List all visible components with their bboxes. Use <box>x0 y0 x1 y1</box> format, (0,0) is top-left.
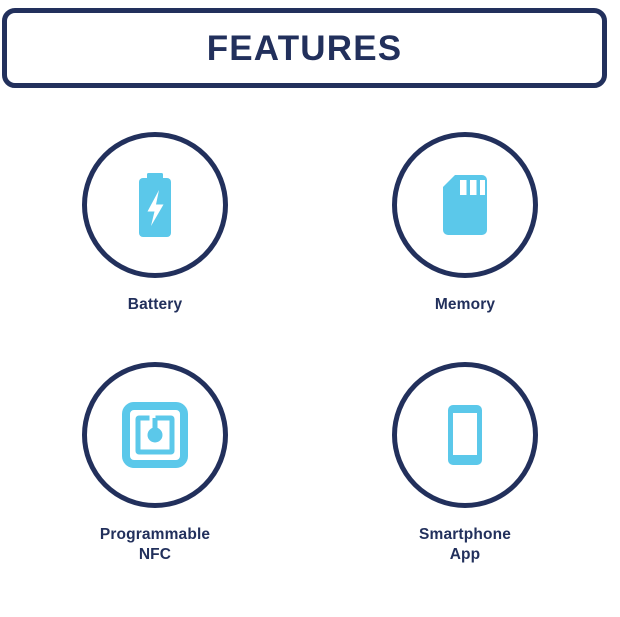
feature-item-memory[interactable]: Memory <box>310 132 620 362</box>
feature-item-programmable-nfc[interactable]: Programmable NFC <box>0 362 310 592</box>
nfc-icon <box>118 398 192 472</box>
memory-card-icon <box>428 168 502 242</box>
feature-label-programmable-nfc: Programmable NFC <box>100 525 210 566</box>
feature-icon-circle-smartphone <box>392 362 538 508</box>
smartphone-icon <box>428 398 502 472</box>
feature-label-smartphone-app: Smartphone App <box>419 525 511 566</box>
feature-label-memory: Memory <box>435 295 495 315</box>
page-title: FEATURES <box>207 31 403 66</box>
feature-icon-circle-nfc <box>82 362 228 508</box>
feature-icon-circle-memory <box>392 132 538 278</box>
feature-item-smartphone-app[interactable]: Smartphone App <box>310 362 620 592</box>
feature-icon-circle-battery <box>82 132 228 278</box>
features-header-banner: FEATURES <box>2 8 607 88</box>
battery-icon <box>118 168 192 242</box>
feature-item-battery[interactable]: Battery <box>0 132 310 362</box>
features-grid: Battery Memory <box>0 132 620 617</box>
feature-label-battery: Battery <box>128 295 182 315</box>
